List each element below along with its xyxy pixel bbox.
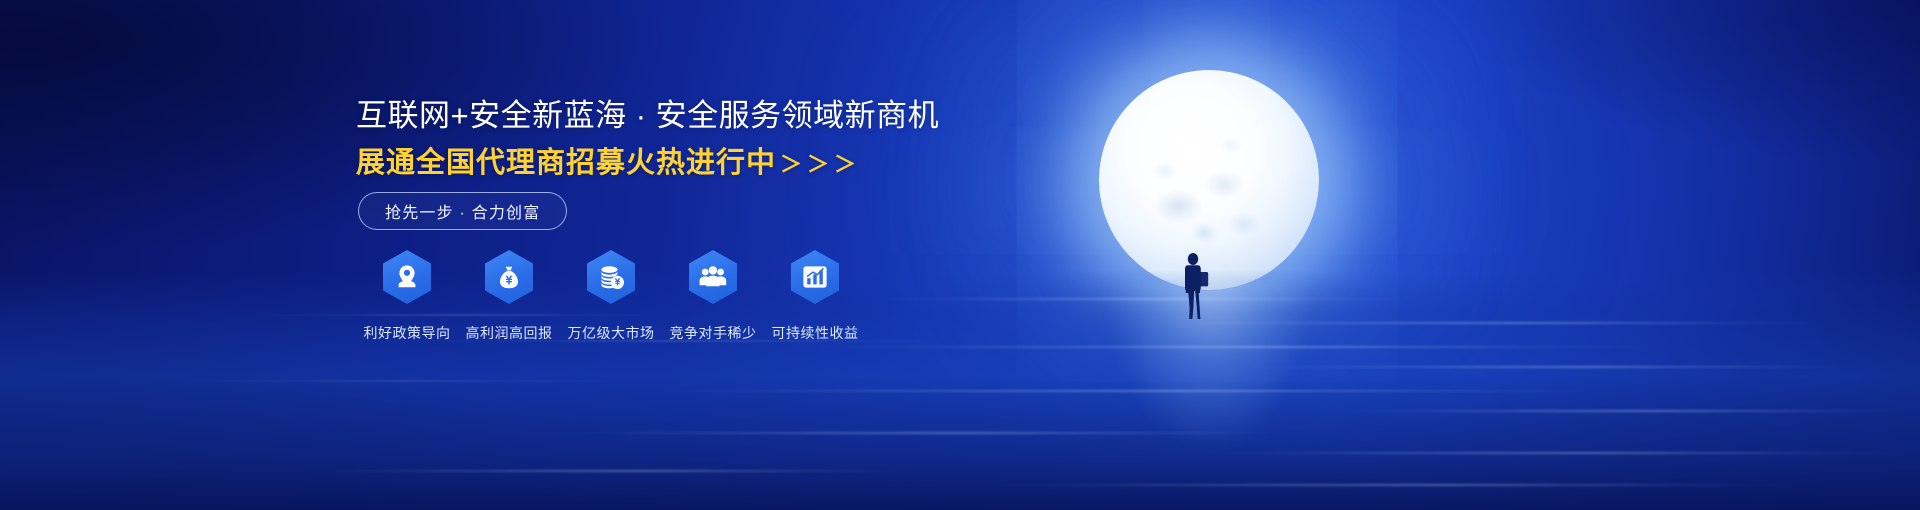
feature-item[interactable]: 万亿级大市场 — [560, 250, 662, 343]
feature-label: 可持续性收益 — [772, 323, 859, 343]
feature-label: 高利润高回报 — [466, 323, 553, 343]
banner-subline-text: 展通全国代理商招募火热进行中 — [356, 147, 776, 179]
feature-item[interactable]: 高利润高回报 — [458, 250, 560, 343]
money-bag-yuan-icon — [496, 264, 522, 290]
coin-stack-yuan-icon — [598, 264, 625, 290]
banner-subline: 展通全国代理商招募火热进行中＞＞＞ — [356, 144, 861, 184]
chevron-right-arrows-icon: ＞＞＞ — [780, 152, 861, 177]
feature-label: 利好政策导向 — [364, 323, 451, 343]
banner-headline: 互联网+安全新蓝海 · 安全服务领域新商机 — [356, 96, 939, 136]
bar-chart-growth-icon — [802, 265, 828, 289]
feature-label: 万亿级大市场 — [568, 323, 655, 343]
feature-list: 利好政策导向 高利润高回报 — [356, 250, 866, 343]
feature-badge-hexagon — [485, 250, 533, 304]
feature-badge-hexagon — [383, 250, 431, 304]
feature-item[interactable]: 竞争对手稀少 — [662, 250, 764, 343]
feature-badge-hexagon — [791, 250, 839, 304]
feature-badge-hexagon — [587, 250, 635, 304]
banner-content: 互联网+安全新蓝海 · 安全服务领域新商机 展通全国代理商招募火热进行中＞＞＞ … — [0, 0, 1920, 510]
cta-pill-button[interactable]: 抢先一步 · 合力创富 — [358, 192, 567, 230]
feature-item[interactable]: 可持续性收益 — [764, 250, 866, 343]
location-pin-person-icon — [394, 264, 420, 290]
people-group-icon — [699, 265, 727, 289]
hero-banner: 互联网+安全新蓝海 · 安全服务领域新商机 展通全国代理商招募火热进行中＞＞＞ … — [0, 0, 1920, 510]
feature-label: 竞争对手稀少 — [670, 323, 757, 343]
feature-badge-hexagon — [689, 250, 737, 304]
feature-item[interactable]: 利好政策导向 — [356, 250, 458, 343]
